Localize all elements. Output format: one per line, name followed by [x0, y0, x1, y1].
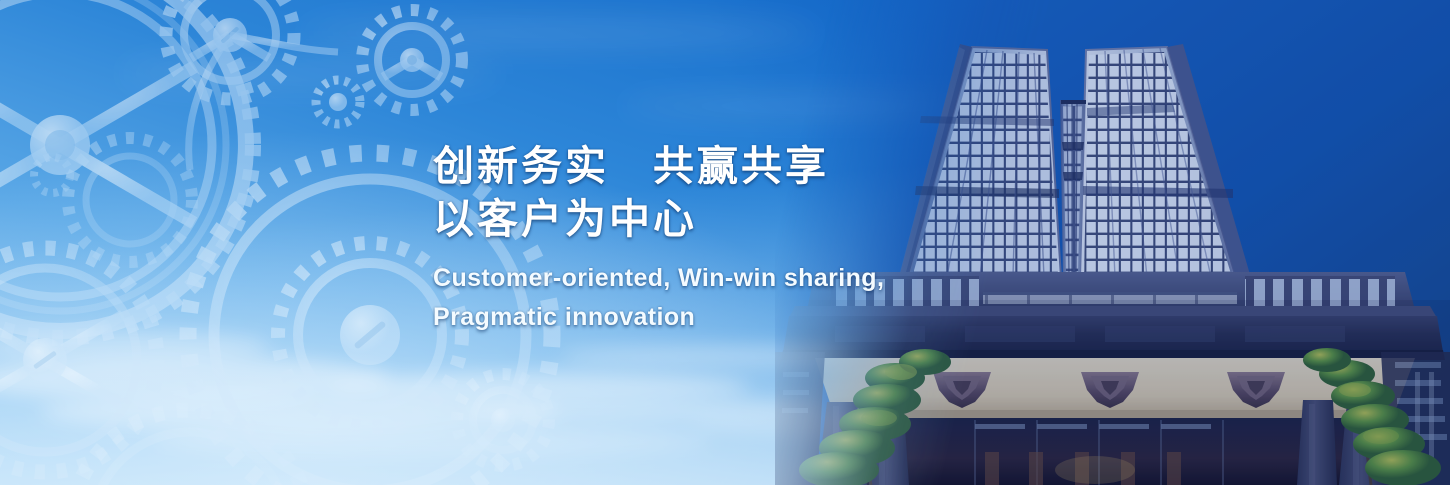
headline-block: 创新务实 共赢共享 以客户为中心 Customer-oriented, Win-…	[433, 140, 953, 337]
subheadline-line-2: Pragmatic innovation	[433, 298, 953, 337]
subheadline-block: Customer-oriented, Win-win sharing, Prag…	[433, 259, 953, 337]
headline-line-2: 以客户为中心	[433, 193, 953, 246]
headline-line-1: 创新务实 共赢共享	[433, 140, 953, 193]
subheadline-line-1: Customer-oriented, Win-win sharing,	[433, 259, 953, 298]
hero-banner: 创新务实 共赢共享 以客户为中心 Customer-oriented, Win-…	[0, 0, 1450, 485]
